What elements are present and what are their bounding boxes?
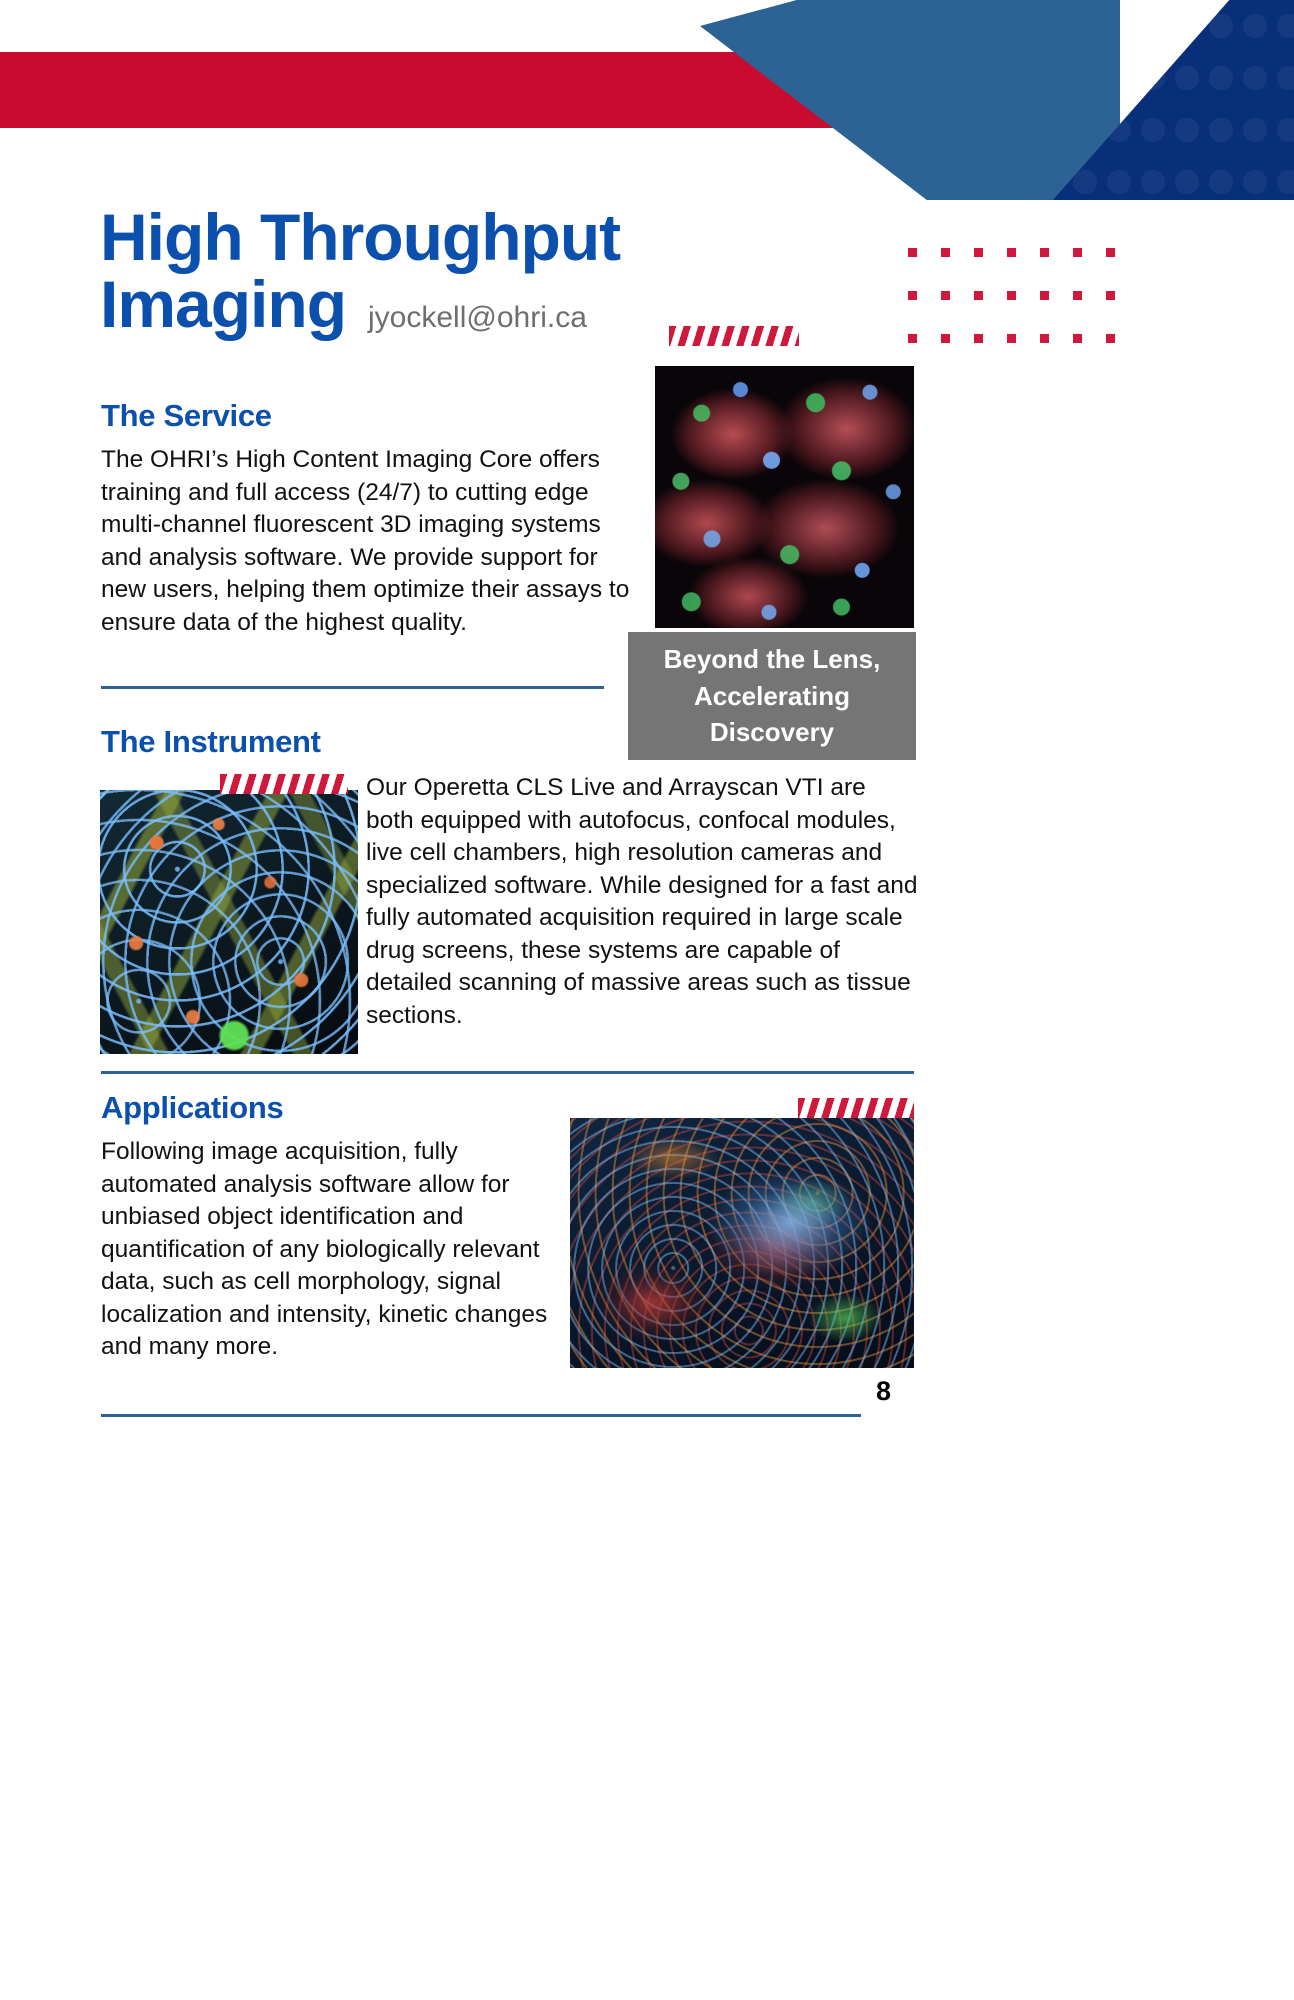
section-body-applications: Following image acquisition, fully autom… <box>101 1136 563 1364</box>
dot <box>1073 248 1082 257</box>
section-divider-2 <box>101 1071 914 1074</box>
tagline-line-3: Discovery <box>710 714 834 751</box>
dot <box>1040 334 1049 343</box>
dot <box>1106 334 1115 343</box>
dot <box>941 248 950 257</box>
red-dot-grid-decoration <box>908 248 1139 377</box>
red-hash-stripe-decoration <box>220 774 348 794</box>
brain-section-image <box>570 1118 914 1368</box>
neurons-fibers-image <box>100 790 358 1054</box>
dot <box>908 334 917 343</box>
dot <box>1040 291 1049 300</box>
section-heading-service: The Service <box>101 398 272 434</box>
dot <box>1106 248 1115 257</box>
contact-email[interactable]: jyockell@ohri.ca <box>368 303 587 334</box>
red-hash-stripe-decoration <box>798 1098 914 1118</box>
section-divider-3 <box>101 1414 861 1417</box>
dot <box>1106 291 1115 300</box>
figure-neurons-fibers <box>100 778 358 1054</box>
dot <box>1073 334 1082 343</box>
dot <box>1007 248 1016 257</box>
section-body-instrument: Our Operetta CLS Live and Arrayscan VTI … <box>366 772 918 1033</box>
dot <box>974 248 983 257</box>
dot <box>908 248 917 257</box>
dot <box>974 291 983 300</box>
tagline-line-1: Beyond the Lens, <box>664 641 881 678</box>
tagline-line-2: Accelerating <box>694 678 850 715</box>
section-body-service: The OHRI’s High Content Imaging Core off… <box>101 444 637 639</box>
page-title-line-2: Imaging <box>100 271 346 338</box>
section-heading-applications: Applications <box>101 1090 283 1126</box>
dot <box>1007 334 1016 343</box>
section-divider-1 <box>101 686 604 689</box>
cells-fluorescent-image <box>655 366 914 628</box>
page-number: 8 <box>876 1376 891 1407</box>
dot <box>1040 248 1049 257</box>
tagline-box: Beyond the Lens, Accelerating Discovery <box>628 632 916 760</box>
dot <box>941 291 950 300</box>
dot <box>974 334 983 343</box>
section-heading-instrument: The Instrument <box>101 724 321 760</box>
dot <box>908 291 917 300</box>
red-hash-stripe-decoration <box>669 326 799 346</box>
page-title: High Throughput Imaging jyockell@ohri.ca <box>100 204 800 339</box>
figure-cells-fluorescent <box>655 344 914 628</box>
dot <box>1073 291 1082 300</box>
page-title-line-1: High Throughput <box>100 204 800 271</box>
figure-brain-section <box>570 1100 914 1368</box>
dot <box>1007 291 1016 300</box>
dot <box>941 334 950 343</box>
page-header-banner <box>0 0 1294 200</box>
